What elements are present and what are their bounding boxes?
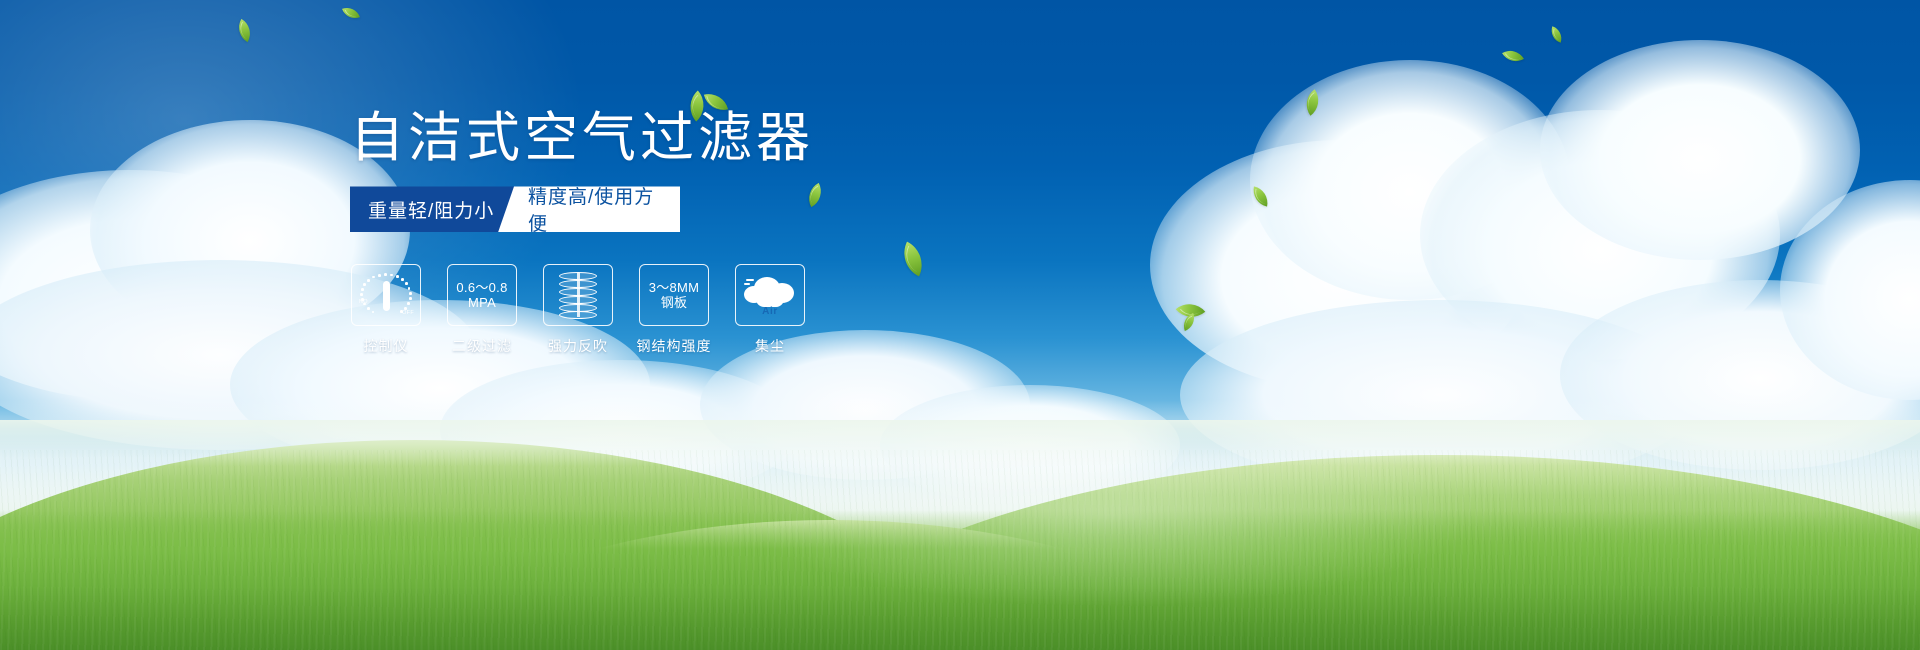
cartridge-ring [559,272,597,280]
feature-icon-box: 0.6～0.8 MPA [447,264,517,326]
feature-icon-box: NO OFF [351,264,421,326]
feature-item-control: NO OFF 控制仪 [350,264,422,356]
feature-caption: 控制仪 [364,336,409,356]
feature-item-pressure: 0.6～0.8 MPA 二级过滤 [446,264,518,356]
feature-caption: 集尘 [755,336,785,356]
feature-item-backflush: 强力反吹 [542,264,614,356]
hero-banner: 自洁式空气过滤器 重量轻/阻力小 精度高/使用方便 [0,0,1920,650]
feature-icon-box [543,264,613,326]
gauge-icon: NO OFF [360,272,412,318]
badge-secondary: 精度高/使用方便 [498,186,680,232]
feature-icon-box: Air [735,264,805,326]
cartridge-ring [559,296,597,304]
pressure-value: 0.6～0.8 [456,280,507,295]
gauge-label-right: OFF [402,310,414,316]
banner-content: 自洁式空气过滤器 重量轻/阻力小 精度高/使用方便 [350,108,870,356]
air-streak [746,279,754,281]
cartridge-ring [559,288,597,296]
grass-field [0,420,1920,650]
feature-item-dust: Air 集尘 [734,264,806,356]
feature-item-steel: 3～8MM 钢板 钢结构强度 [638,264,710,356]
gauge-needle [383,281,390,311]
feature-icon-box: 3～8MM 钢板 [639,264,709,326]
feature-list: NO OFF 控制仪 0.6～0.8 MPA 二级过滤 [350,264,870,356]
page-title: 自洁式空气过滤器 [350,108,870,168]
pressure-unit: MPA [468,295,496,310]
feature-caption: 二级过滤 [452,336,512,356]
feature-caption: 强力反吹 [548,336,608,356]
air-dust-icon: Air [744,273,796,317]
horizon-blend [0,420,1920,466]
gauge-label-left: NO [359,299,368,305]
air-label: Air [744,306,796,318]
cartridge-ring [559,280,597,288]
badge-group: 重量轻/阻力小 精度高/使用方便 [350,186,680,232]
badge-primary: 重量轻/阻力小 [350,186,520,232]
steel-material: 钢板 [661,295,688,310]
cartridge-ring [559,311,597,319]
steel-thickness: 3～8MM [649,280,700,295]
cartridge-icon [558,271,598,319]
feature-caption: 钢结构强度 [637,336,712,356]
air-streak [744,283,750,285]
